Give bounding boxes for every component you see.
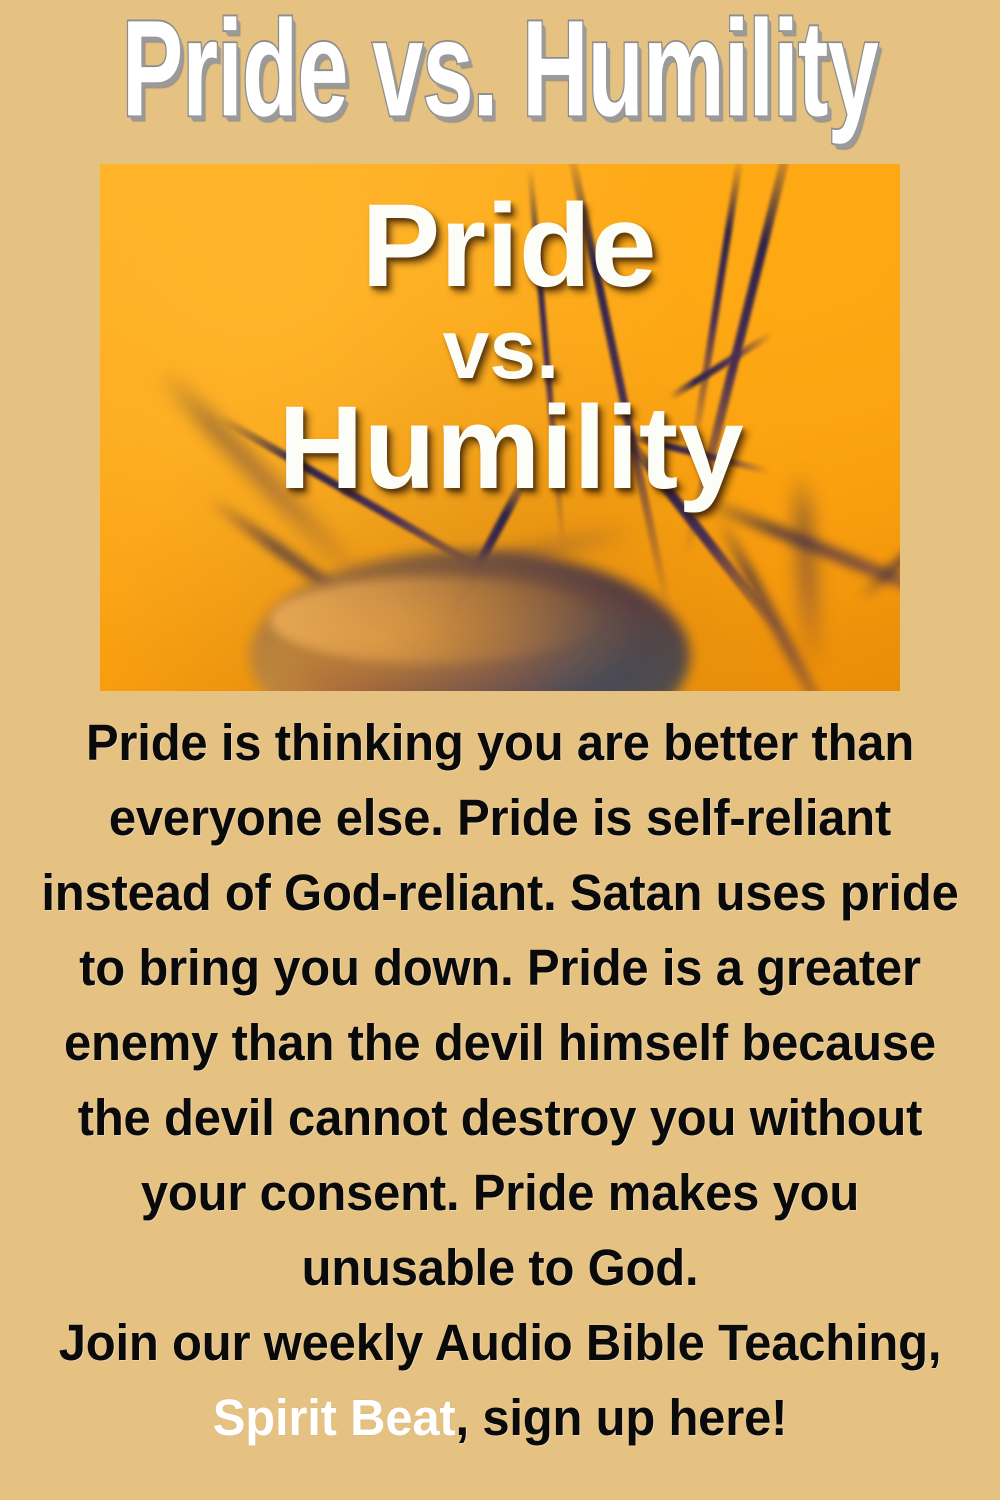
call-to-action: Join our weekly Audio Bible Teaching,Spi… [28, 1305, 973, 1455]
hero-image-caption: Pride vs. Humility [100, 164, 900, 691]
body-paragraph: Pride is thinking you are better than ev… [28, 705, 973, 1305]
hero-caption-line-3: Humility [278, 392, 744, 505]
pinterest-pin-graphic: Pride vs. Humility Pride vs. Humility Pr… [0, 0, 1000, 1500]
page-title: Pride vs. Humility [122, 1, 878, 138]
hero-caption-line-2: vs. [443, 309, 560, 390]
cta-suffix-text: , sign up here! [456, 1389, 788, 1446]
hero-caption-line-1: Pride [361, 190, 656, 303]
spirit-beat-link[interactable]: Spirit Beat [213, 1389, 456, 1446]
page-title-container: Pride vs. Humility [0, 0, 1000, 132]
cta-prefix-text: Join our weekly Audio Bible Teaching, [59, 1314, 941, 1371]
body-copy: Pride is thinking you are better than ev… [20, 705, 980, 1455]
hero-image: Pride vs. Humility [100, 164, 900, 691]
